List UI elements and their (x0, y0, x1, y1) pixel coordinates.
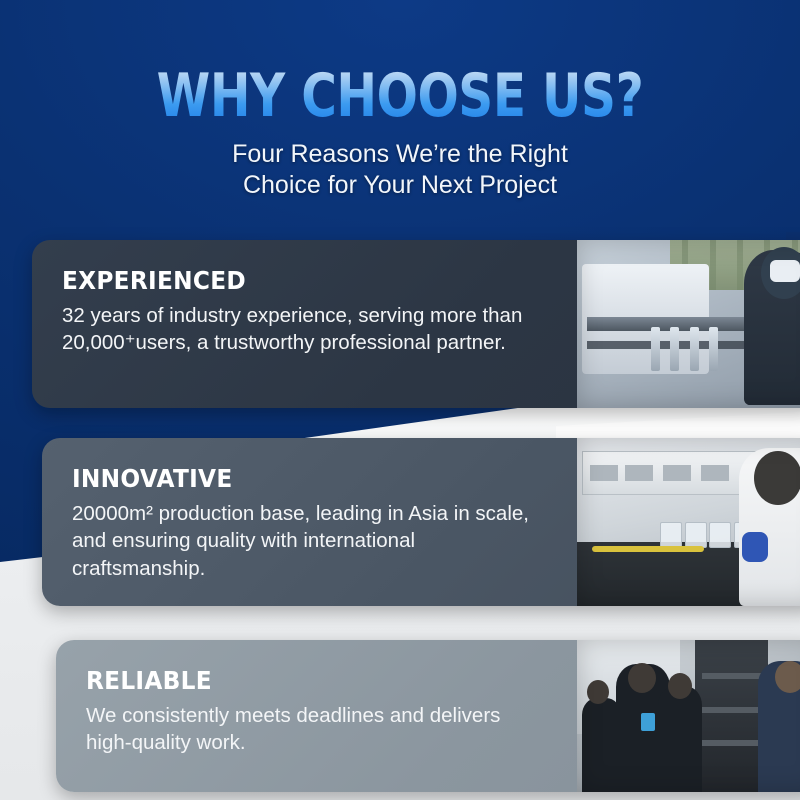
page-title: WHY CHOOSE US? (40, 66, 760, 127)
photo-vignette (577, 640, 800, 792)
reason-card-experienced[interactable]: EXPERIENCED 32 years of industry experie… (32, 240, 800, 408)
poster-header: WHY CHOOSE US? Four Reasons We’re the Ri… (0, 0, 800, 200)
photo-vignette (577, 438, 800, 606)
production-line-worker-photo (577, 240, 800, 408)
photo-vignette (577, 240, 800, 408)
card-title: RELIABLE (86, 666, 518, 695)
card-body: EXPERIENCED 32 years of industry experie… (32, 240, 577, 408)
card-body: INNOVATIVE 20000m² production base, lead… (42, 438, 577, 606)
card-description: We consistently meets deadlines and deli… (86, 702, 551, 757)
page-subtitle-line-1: Four Reasons We’re the Right (0, 139, 800, 170)
team-meeting-photo (577, 640, 800, 792)
page-subtitle-line-2: Choice for Your Next Project (0, 170, 800, 201)
card-description: 20000m² production base, leading in Asia… (72, 500, 542, 582)
card-body: RELIABLE We consistently meets deadlines… (56, 640, 577, 792)
why-choose-us-poster: WHY CHOOSE US? Four Reasons We’re the Ri… (0, 0, 800, 800)
laboratory-technician-photo (577, 438, 800, 606)
page-subtitle: Four Reasons We’re the Right Choice for … (0, 139, 800, 200)
reason-card-reliable[interactable]: RELIABLE We consistently meets deadlines… (56, 640, 800, 792)
card-title: INNOVATIVE (72, 464, 517, 493)
reason-card-innovative[interactable]: INNOVATIVE 20000m² production base, lead… (42, 438, 800, 606)
card-title: EXPERIENCED (62, 266, 517, 295)
card-description: 32 years of industry experience, serving… (62, 302, 532, 357)
